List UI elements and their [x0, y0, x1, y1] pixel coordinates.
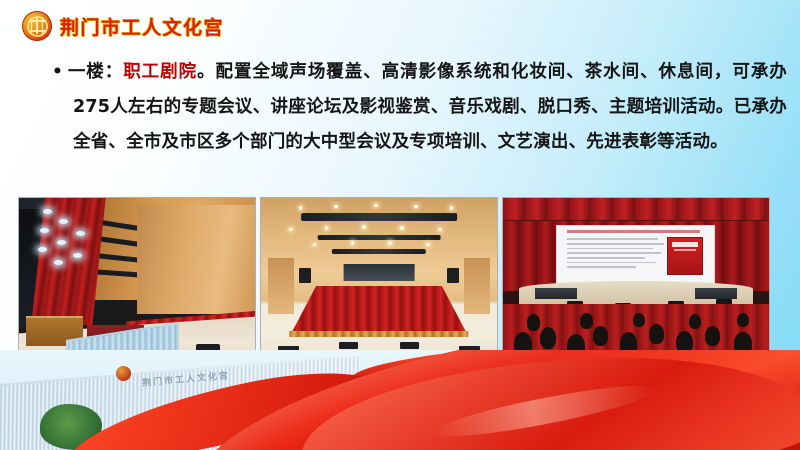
bullet-marker: •	[52, 62, 67, 82]
text-segment-lead: 一楼：	[67, 62, 123, 82]
footer-decorative-band: 荆门市工人文化宫	[0, 350, 800, 450]
slide-canvas: 荆门市工人文化宫 •一楼：职工剧院。配置全域声场覆盖、高清影像系统和化妆间、茶水…	[0, 0, 800, 450]
photo-theater-interior-angled	[18, 197, 256, 375]
slide-body-text: •一楼：职工剧院。配置全域声场覆盖、高清影像系统和化妆间、茶水间、休息间，可承办…	[52, 55, 787, 160]
organization-title: 荆门市工人文化宫	[60, 13, 224, 40]
text-segment-highlight: 职工剧院	[123, 62, 197, 82]
header-logo: 荆门市工人文化宫	[22, 8, 224, 44]
photo-auditorium-symmetric	[260, 197, 498, 365]
photo-conference-in-session	[502, 197, 770, 365]
chinese-trade-union-emblem-icon	[22, 11, 52, 41]
